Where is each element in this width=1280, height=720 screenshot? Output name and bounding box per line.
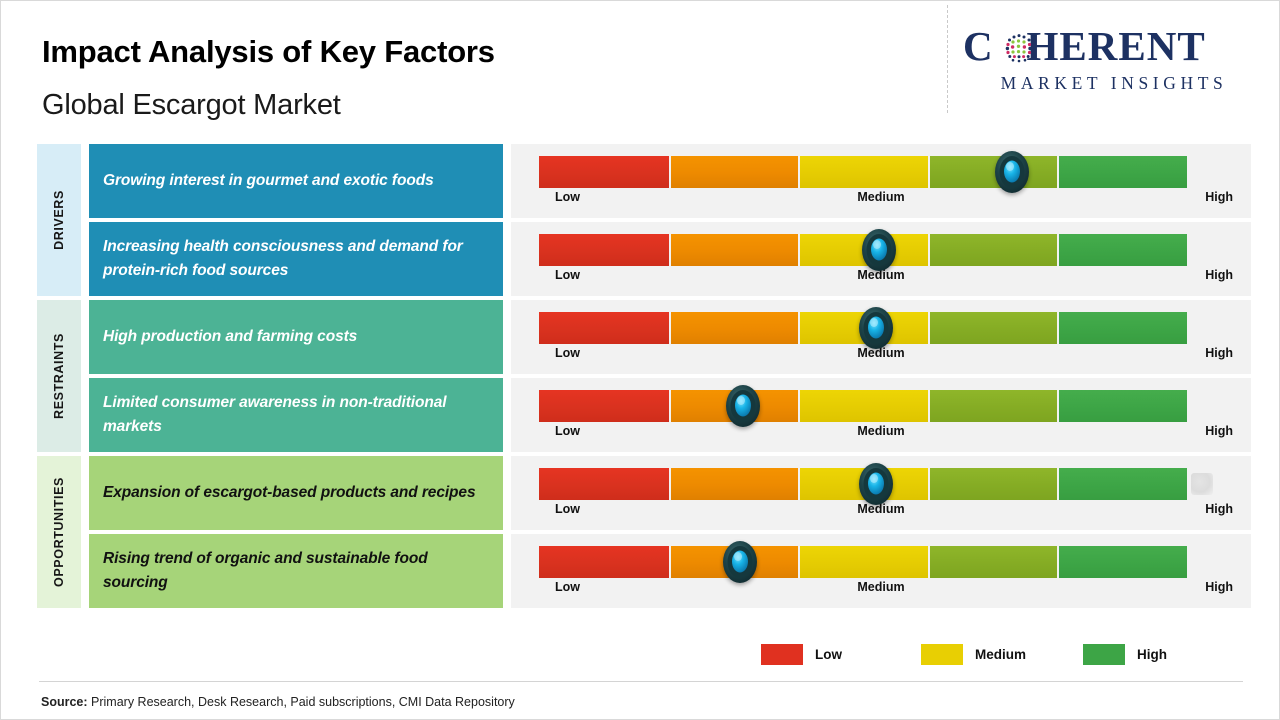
- legend-item: High: [1083, 644, 1167, 665]
- logo-tagline: MARKET INSIGHTS: [965, 73, 1263, 94]
- gauge-segment-5: [1059, 234, 1187, 266]
- gauge-segment-4: [930, 234, 1058, 266]
- gauge-segment-2: [671, 234, 799, 266]
- legend-item: Low: [761, 644, 842, 665]
- impact-marker[interactable]: [717, 539, 763, 585]
- page-header: Impact Analysis of Key Factors Global Es…: [1, 1, 1280, 131]
- source-text: Primary Research, Desk Research, Paid su…: [88, 695, 515, 709]
- gauge-segment-1: [539, 468, 669, 500]
- factor-block: Increasing health consciousness and dema…: [89, 222, 503, 296]
- legend-label: Medium: [975, 647, 1026, 662]
- factor-text: Rising trend of organic and sustainable …: [103, 547, 489, 595]
- logo-word-after: HERENT: [1027, 23, 1206, 69]
- factor-block: Expansion of escargot-based products and…: [89, 456, 503, 530]
- factor-text: High production and farming costs: [103, 325, 357, 349]
- gauge-segment-4: [930, 546, 1058, 578]
- gauge-segment-4: [930, 390, 1058, 422]
- legend-label: High: [1137, 647, 1167, 662]
- factor-block: High production and farming costs: [89, 300, 503, 374]
- legend-item: Medium: [921, 644, 1026, 665]
- factor-text: Limited consumer awareness in non-tradit…: [103, 391, 489, 439]
- gauge-segment-3: [800, 390, 928, 422]
- dotted-globe-icon: [1003, 31, 1036, 64]
- impact-gauge: LowMediumHigh: [511, 222, 1251, 296]
- factor-text: Growing interest in gourmet and exotic f…: [103, 169, 434, 193]
- impact-gauge: LowMediumHigh: [511, 300, 1251, 374]
- scale-tick-high: High: [511, 190, 1233, 204]
- impact-gauge: LowMediumHigh: [511, 456, 1251, 530]
- gauge-end-nub: [1191, 473, 1213, 495]
- impact-matrix: DRIVERSRESTRAINTSOPPORTUNITIESGrowing in…: [1, 144, 1280, 614]
- category-tab-opportunities: OPPORTUNITIES: [37, 456, 81, 608]
- impact-gauge: LowMediumHigh: [511, 144, 1251, 218]
- gauge-segment-5: [1059, 390, 1187, 422]
- category-label: DRIVERS: [52, 190, 66, 250]
- gauge-segment-5: [1059, 546, 1187, 578]
- gauge-track[interactable]: [539, 546, 1187, 578]
- impact-gauge: LowMediumHigh: [511, 534, 1251, 608]
- source-label: Source:: [41, 695, 88, 709]
- gauge-segment-1: [539, 390, 669, 422]
- scale-tick-high: High: [511, 424, 1233, 438]
- impact-marker[interactable]: [856, 227, 902, 273]
- gauge-track[interactable]: [539, 390, 1187, 422]
- gauge-segment-1: [539, 234, 669, 266]
- gauge-segment-1: [539, 546, 669, 578]
- source-note: Source: Primary Research, Desk Research,…: [41, 695, 515, 709]
- category-tab-drivers: DRIVERS: [37, 144, 81, 296]
- factor-text: Expansion of escargot-based products and…: [103, 481, 475, 505]
- factor-text: Increasing health consciousness and dema…: [103, 235, 489, 283]
- legend-label: Low: [815, 647, 842, 662]
- impact-marker[interactable]: [853, 305, 899, 351]
- category-tab-restraints: RESTRAINTS: [37, 300, 81, 452]
- impact-gauge: LowMediumHigh: [511, 378, 1251, 452]
- gauge-segment-4: [930, 312, 1058, 344]
- legend: LowMediumHigh: [761, 644, 1201, 670]
- impact-marker[interactable]: [989, 149, 1035, 195]
- gauge-track[interactable]: [539, 156, 1187, 188]
- logo-divider: [947, 5, 948, 113]
- impact-marker[interactable]: [853, 461, 899, 507]
- footer-divider: [39, 681, 1243, 682]
- logo-word-before: C: [963, 23, 994, 69]
- page-subtitle: Global Escargot Market: [42, 89, 341, 122]
- gauge-segment-2: [671, 468, 799, 500]
- gauge-segment-3: [800, 546, 928, 578]
- scale-tick-high: High: [511, 580, 1233, 594]
- company-logo: COHERENT: [963, 23, 1263, 105]
- gauge-segment-1: [539, 312, 669, 344]
- legend-swatch: [1083, 644, 1125, 665]
- factor-block: Rising trend of organic and sustainable …: [89, 534, 503, 608]
- category-label: RESTRAINTS: [52, 333, 66, 419]
- gauge-segment-5: [1059, 156, 1187, 188]
- impact-marker[interactable]: [720, 383, 766, 429]
- gauge-segment-5: [1059, 468, 1187, 500]
- legend-swatch: [761, 644, 803, 665]
- gauge-segment-4: [930, 468, 1058, 500]
- page-title: Impact Analysis of Key Factors: [42, 34, 495, 70]
- gauge-segment-1: [539, 156, 669, 188]
- gauge-segment-5: [1059, 312, 1187, 344]
- gauge-segment-2: [671, 312, 799, 344]
- factor-block: Limited consumer awareness in non-tradit…: [89, 378, 503, 452]
- factor-block: Growing interest in gourmet and exotic f…: [89, 144, 503, 218]
- category-label: OPPORTUNITIES: [52, 477, 66, 587]
- gauge-segment-3: [800, 156, 928, 188]
- legend-swatch: [921, 644, 963, 665]
- gauge-segment-2: [671, 156, 799, 188]
